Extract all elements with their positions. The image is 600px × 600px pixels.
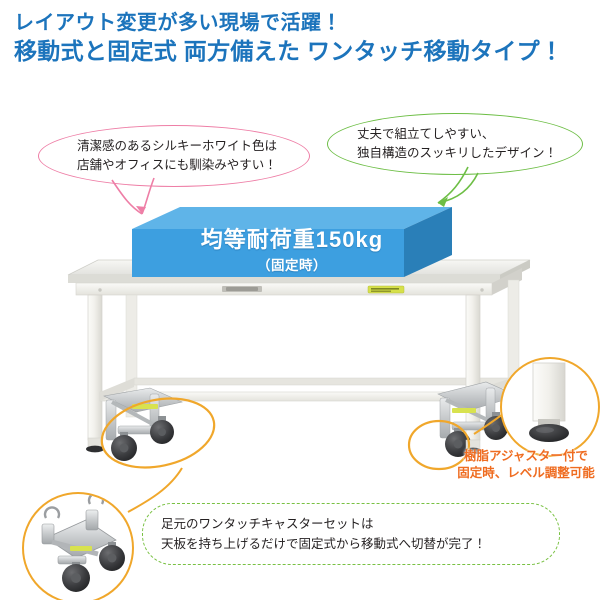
bubble-silky-white: 清潔感のあるシルキーホワイト色は 店舗やオフィスにも馴染みやすい！ <box>38 125 310 187</box>
leg-detail <box>533 363 565 421</box>
caster-mechanism-left <box>104 388 182 461</box>
headline-block: レイアウト変更が多い現場で活躍！ 移動式と固定式 両方備えた ワンタッチ移動タイ… <box>14 12 594 64</box>
load-block-front-face <box>132 229 404 277</box>
bubble-one-touch-caster: 足元のワンタッチキャスターセットは 天板を持ち上げるだけで固定式から移動式へ切替… <box>142 503 560 565</box>
load-capacity-block: 均等耐荷重150kg （固定時） <box>132 207 452 285</box>
adjuster-detail-photo <box>500 357 600 457</box>
bubble-sturdy-design-text: 丈夫で組立てしやすい、 独自構造のスッキリしたデザイン！ <box>353 125 557 164</box>
leg-front-left <box>88 295 102 440</box>
caster-set-detail-photo <box>22 492 134 600</box>
bubble-sturdy-design: 丈夫で組立てしやすい、 独自構造のスッキリしたデザイン！ <box>327 113 583 175</box>
bubble-one-touch-caster-text: 足元のワンタッチキャスターセットは 天板を持ち上げるだけで固定式から移動式へ切替… <box>143 514 486 554</box>
leg-front-right <box>466 295 480 440</box>
adjuster-pad-icon <box>529 424 569 442</box>
headline-line-1: レイアウト変更が多い現場で活躍！ <box>14 12 594 35</box>
headline-line-2: 移動式と固定式 両方備えた ワンタッチ移動タイプ！ <box>14 38 594 64</box>
adjuster-foot-left <box>86 446 104 453</box>
adjuster-caption: 樹脂アジャスター付で 固定時、レベル調整可能 <box>452 448 600 482</box>
load-block-top-face <box>132 207 452 229</box>
bubble-silky-white-text: 清潔感のあるシルキーホワイト色は 店舗やオフィスにも馴染みやすい！ <box>71 137 277 176</box>
infographic-canvas: レイアウト変更が多い現場で活躍！ 移動式と固定式 両方備えた ワンタッチ移動タイ… <box>0 0 600 600</box>
